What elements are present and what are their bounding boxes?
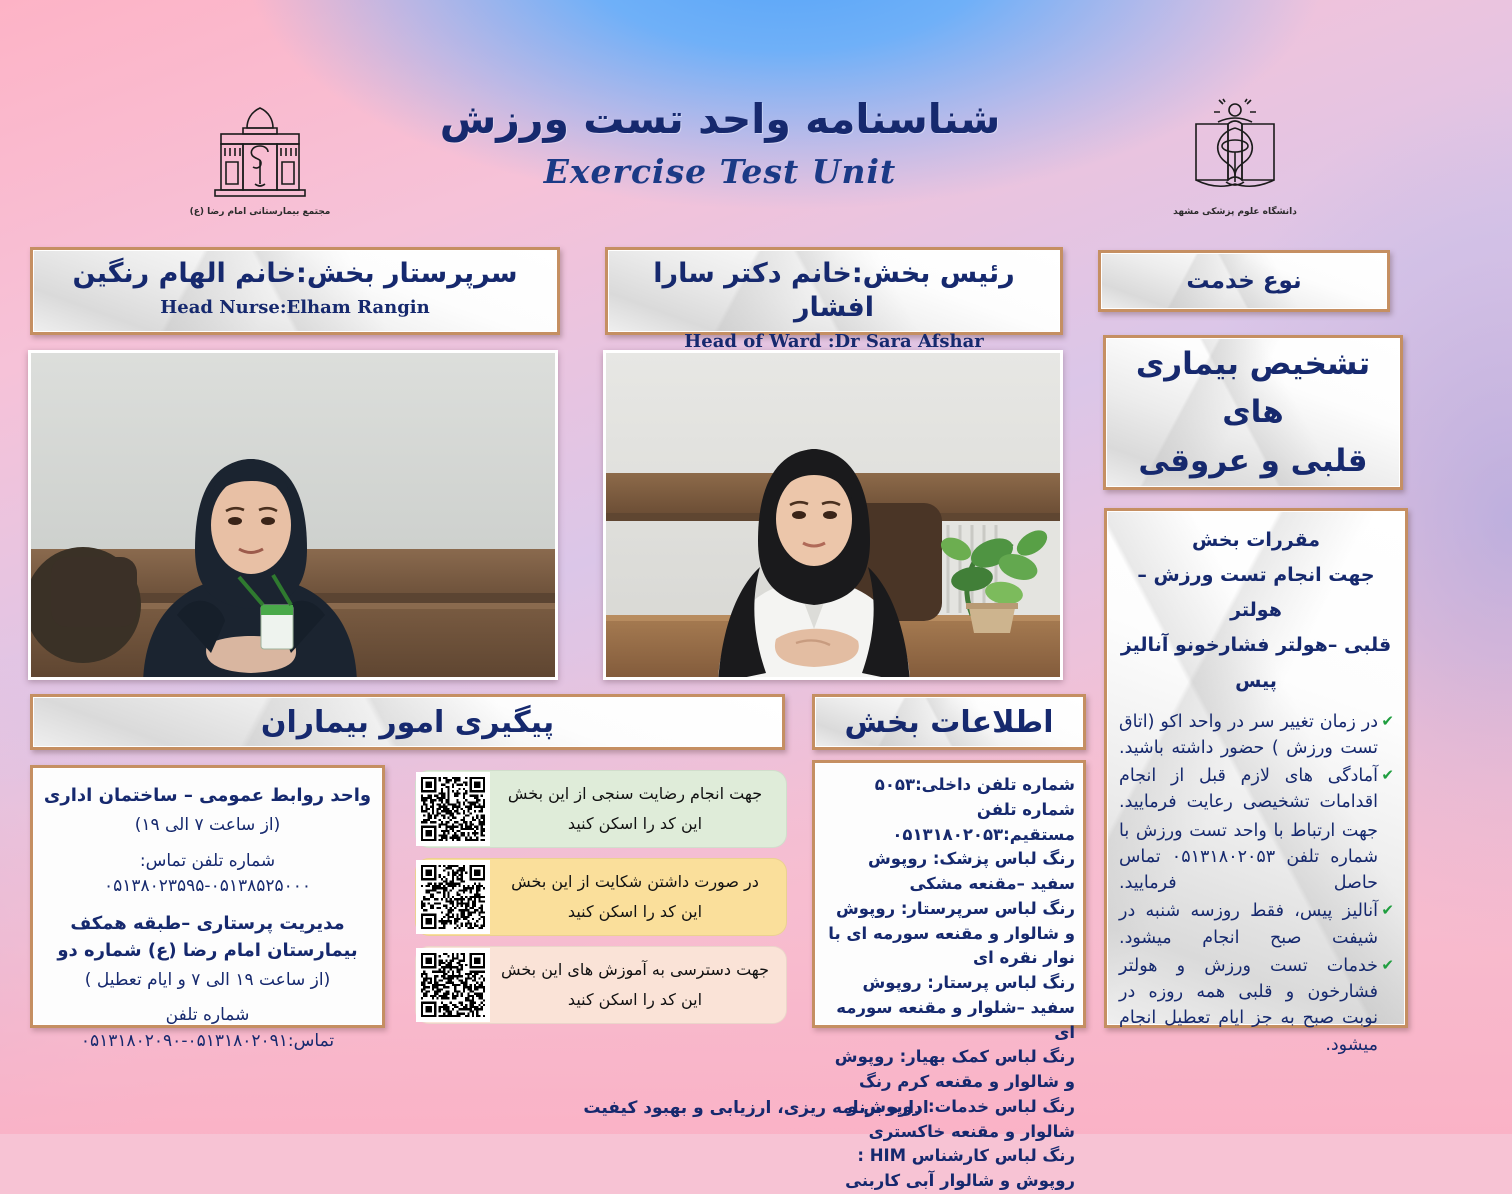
rules-heading-3: قلبی –هولتر فشارخونو آنالیز پیس (1119, 628, 1393, 698)
head-of-ward-name-en: Head of Ward :Dr Sara Afshar (618, 331, 1050, 352)
ward-info-line: رنگ لباس پزشک: روپوش سفید –مقنعه مشکی (823, 847, 1075, 897)
check-icon: ✔ (1381, 954, 1394, 977)
head-nurse-name-fa: سرپرستار بخش:خانم الهام رنگین (43, 257, 547, 291)
qr-complaint-line-2: این کد را اسکن کنید (498, 897, 772, 927)
service-type-label: نوع خدمت (1186, 268, 1301, 294)
qr-code-complaint-icon[interactable] (416, 860, 490, 934)
ward-info-panel: شماره تلفن داخلی:۵۰۵۳ شماره تلفن مستقیم:… (812, 760, 1086, 1028)
patient-followup-contacts: واحد روابط عمومی – ساختمان اداری (از ساع… (30, 765, 385, 1028)
rule-item: ✔ آمادگی های لازم قبل از انجام اقدامات ت… (1119, 763, 1393, 816)
head-nurse-name-en: Head Nurse:Elham Rangin (43, 297, 547, 318)
ward-info-line: رنگ لباس پرستار: روپوش سفید –شلوار و مقن… (823, 971, 1075, 1045)
rules-list: ✔ در زمان تغییر سر در واحد اکو (اتاق تست… (1119, 709, 1393, 1058)
head-nurse-banner: سرپرستار بخش:خانم الهام رنگین Head Nurse… (30, 247, 560, 335)
page-title-en: Exercise Test Unit (370, 152, 1070, 191)
qr-education-line-2: این کد را اسکن کنید (498, 985, 772, 1015)
qr-code-satisfaction-icon[interactable] (416, 772, 490, 846)
qr-complaint-line-1: در صورت داشتن شکایت از این بخش (498, 867, 772, 897)
university-logo-caption: دانشگاه علوم پزشکی مشهد (1160, 207, 1310, 217)
rule-item: جهت ارتباط با واحد تست ورزش با شماره تلف… (1119, 818, 1393, 897)
service-type-header: نوع خدمت (1098, 250, 1390, 312)
page-title: شناسنامه واحد تست ورزش Exercise Test Uni… (370, 96, 1070, 191)
patient-followup-header: پیگیری امور بیماران (30, 694, 785, 750)
ward-info-line: شماره تلفن مستقیم:۰۵۱۳۱۸۰۲۰۵۳ (823, 798, 1075, 848)
rule-text: آنالیز پیس، فقط روزسه شنبه در شیفت صبح ا… (1119, 901, 1378, 947)
rule-text: آمادگی های لازم قبل از انجام اقدامات تشخ… (1119, 766, 1378, 812)
qr-row-satisfaction-text: جهت انجام رضایت سنجی از این بخش این کد ر… (490, 779, 780, 838)
ward-rules-panel: مقررات بخش جهت انجام تست ورزش – هولتر قل… (1104, 508, 1408, 1028)
qr-code-education-icon[interactable] (416, 948, 490, 1022)
rule-text: جهت ارتباط با واحد تست ورزش با شماره تلف… (1119, 821, 1378, 894)
ward-info-line: رنگ لباس سرپرستار: روپوش و شالوار و مقنع… (823, 897, 1075, 971)
hospital-logo-caption: مجتمع بیمارستانی امام رضا (ع) (185, 207, 335, 217)
check-icon: ✔ (1381, 710, 1394, 733)
ward-info-line: رنگ لباس کارشناس HIM : روپوش و شالوار آب… (823, 1144, 1075, 1194)
footer-text: اداره برنامه ریزی، ارزیابی و بهبود کیفیت (0, 1098, 1512, 1118)
check-icon: ✔ (1381, 764, 1394, 787)
ward-info-line: رنگ لباس کمک بهیار: روپوش و شالوار و مقن… (823, 1045, 1075, 1095)
rule-item: ✔ خدمات تست ورزش و هولتر فشارخون و قلبی … (1119, 953, 1393, 1058)
page-title-fa: شناسنامه واحد تست ورزش (370, 96, 1070, 144)
qr-row-education-text: جهت دسترسی به آموزش های این بخش این کد ر… (490, 955, 780, 1014)
rule-text: خدمات تست ورزش و هولتر فشارخون و قلبی هم… (1119, 956, 1378, 1055)
head-of-ward-photo (603, 350, 1063, 680)
rule-text: در زمان تغییر سر در واحد اکو (اتاق تست و… (1119, 712, 1378, 758)
rule-item: ✔ آنالیز پیس، فقط روزسه شنبه در شیفت صبح… (1119, 898, 1393, 951)
public-relations-hours: (از ساعت ۷ الی ۱۹) (43, 813, 372, 839)
rule-item: ✔ در زمان تغییر سر در واحد اکو (اتاق تست… (1119, 709, 1393, 762)
university-logo: دانشگاه علوم پزشکی مشهد (1160, 98, 1310, 223)
nursing-management-title: مدیریت پرستاری –طبقه همکف بیمارستان امام… (43, 910, 372, 964)
ward-info-header: اطلاعات بخش (812, 694, 1086, 750)
qr-row-complaint[interactable]: در صورت داشتن شکایت از این بخش این کد را… (415, 858, 787, 936)
check-icon: ✔ (1381, 899, 1394, 922)
rules-heading-1: مقررات بخش (1119, 523, 1393, 558)
qr-satisfaction-line-1: جهت انجام رضایت سنجی از این بخش (498, 779, 772, 809)
qr-row-satisfaction[interactable]: جهت انجام رضایت سنجی از این بخش این کد ر… (415, 770, 787, 848)
hospital-logo: مجتمع بیمارستانی امام رضا (ع) (185, 98, 335, 223)
qr-row-complaint-text: در صورت داشتن شکایت از این بخش این کد را… (490, 867, 780, 926)
patient-followup-heading: پیگیری امور بیماران (261, 705, 554, 740)
public-relations-title: واحد روابط عمومی – ساختمان اداری (43, 782, 372, 809)
service-value-line-1: تشخیص بیماری های (1120, 340, 1386, 436)
public-relations-phone: شماره تلفن تماس: ۰۵۱۳۸۵۲۵۰۰۰-۰۵۱۳۸۰۲۳۵۹۵ (43, 849, 372, 900)
nursing-management-hours: (از ساعت ۱۹ الی ۷ و ایام تعطیل ) (43, 968, 372, 994)
head-of-ward-name-fa: رئیس بخش:خانم دکتر سارا افشار (618, 257, 1050, 325)
nursing-management-phone: شماره تلفن تماس:۰۵۱۳۱۸۰۲۰۹۱-۰۵۱۳۱۸۰۲۰۹۰ (43, 1003, 372, 1054)
rules-heading-2: جهت انجام تست ورزش – هولتر (1119, 558, 1393, 628)
service-type-value: تشخیص بیماری های قلبی و عروقی (1103, 335, 1403, 490)
qr-education-line-1: جهت دسترسی به آموزش های این بخش (498, 955, 772, 985)
service-value-line-2: قلبی و عروقی (1120, 437, 1386, 485)
head-of-ward-banner: رئیس بخش:خانم دکتر سارا افشار Head of Wa… (605, 247, 1063, 335)
ward-info-line: شماره تلفن داخلی:۵۰۵۳ (823, 773, 1075, 798)
qr-row-education[interactable]: جهت دسترسی به آموزش های این بخش این کد ر… (415, 946, 787, 1024)
qr-satisfaction-line-2: این کد را اسکن کنید (498, 809, 772, 839)
head-nurse-photo (28, 350, 558, 680)
ward-info-heading: اطلاعات بخش (845, 705, 1054, 740)
